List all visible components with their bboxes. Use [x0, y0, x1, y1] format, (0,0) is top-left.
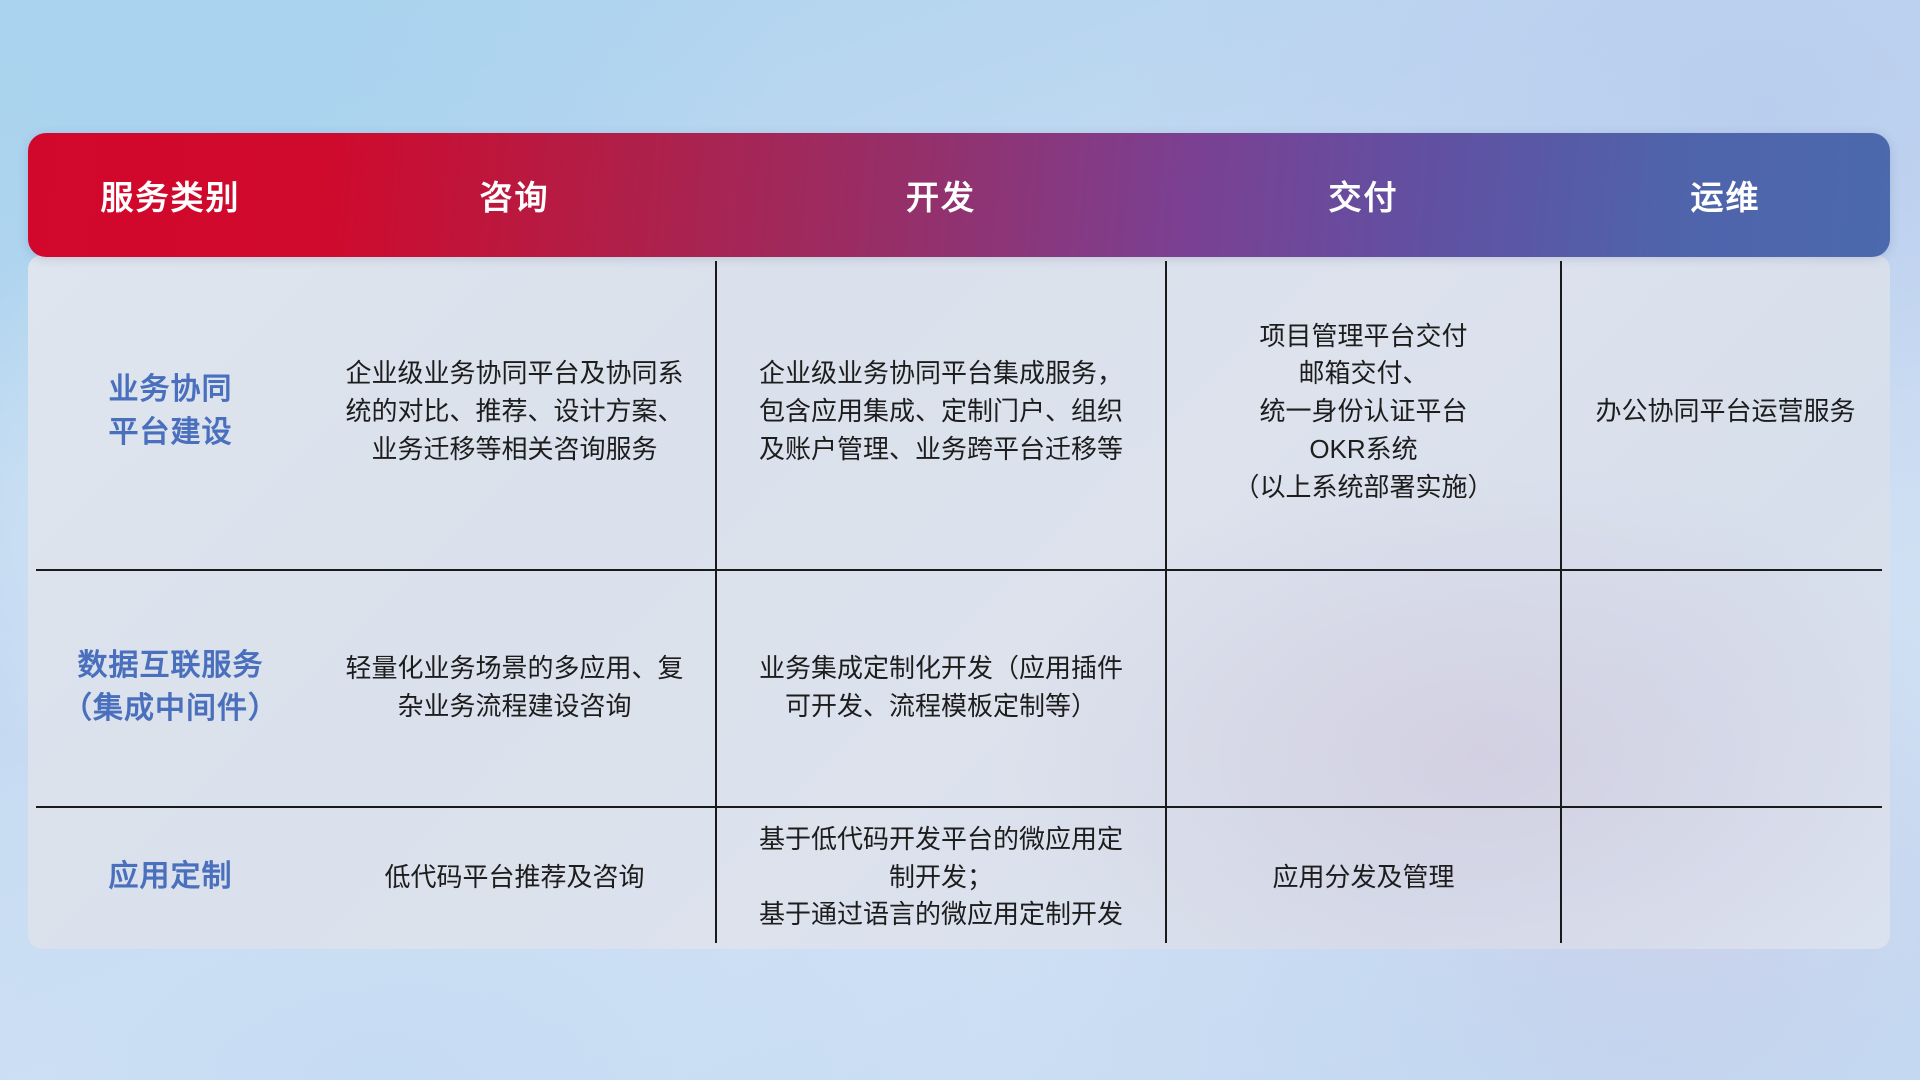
header-cell-operations: 运维	[1561, 171, 1890, 219]
cell-category: 数据互联服务 （集成中间件）	[28, 569, 313, 806]
header-cell-consulting: 咨询	[313, 171, 716, 219]
cell-operations	[1561, 569, 1890, 806]
table-row: 业务协同 平台建设 企业级业务协同平台及协同系 统的对比、推荐、设计方案、 业务…	[28, 255, 1890, 569]
cell-consulting: 低代码平台推荐及咨询	[313, 806, 716, 949]
header-cell-development: 开发	[716, 171, 1166, 219]
cell-category: 业务协同 平台建设	[28, 255, 313, 569]
table-row: 数据互联服务 （集成中间件） 轻量化业务场景的多应用、复 杂业务流程建设咨询 业…	[28, 569, 1890, 806]
cell-delivery: 项目管理平台交付 邮箱交付、 统一身份认证平台 OKR系统 （以上系统部署实施）	[1166, 255, 1561, 569]
cell-operations	[1561, 806, 1890, 949]
cell-consulting: 轻量化业务场景的多应用、复 杂业务流程建设咨询	[313, 569, 716, 806]
table-grid: 业务协同 平台建设 企业级业务协同平台及协同系 统的对比、推荐、设计方案、 业务…	[28, 255, 1890, 949]
cell-operations: 办公协同平台运营服务	[1561, 255, 1890, 569]
cell-consulting: 企业级业务协同平台及协同系 统的对比、推荐、设计方案、 业务迁移等相关咨询服务	[313, 255, 716, 569]
cell-development: 企业级业务协同平台集成服务， 包含应用集成、定制门户、组织 及账户管理、业务跨平…	[716, 255, 1166, 569]
table-row: 应用定制 低代码平台推荐及咨询 基于低代码开发平台的微应用定 制开发； 基于通过…	[28, 806, 1890, 949]
service-matrix-table: 服务类别 咨询 开发 交付 运维 业务协同 平台建设 企业级业务协同平台及协同系…	[28, 133, 1890, 949]
header-cell-category: 服务类别	[28, 171, 313, 219]
table-header-row: 服务类别 咨询 开发 交付 运维	[28, 133, 1890, 257]
cell-development: 业务集成定制化开发（应用插件 可开发、流程模板定制等）	[716, 569, 1166, 806]
cell-delivery: 应用分发及管理	[1166, 806, 1561, 949]
cell-category: 应用定制	[28, 806, 313, 949]
header-cell-delivery: 交付	[1166, 171, 1561, 219]
cell-development: 基于低代码开发平台的微应用定 制开发； 基于通过语言的微应用定制开发	[716, 806, 1166, 949]
cell-delivery	[1166, 569, 1561, 806]
